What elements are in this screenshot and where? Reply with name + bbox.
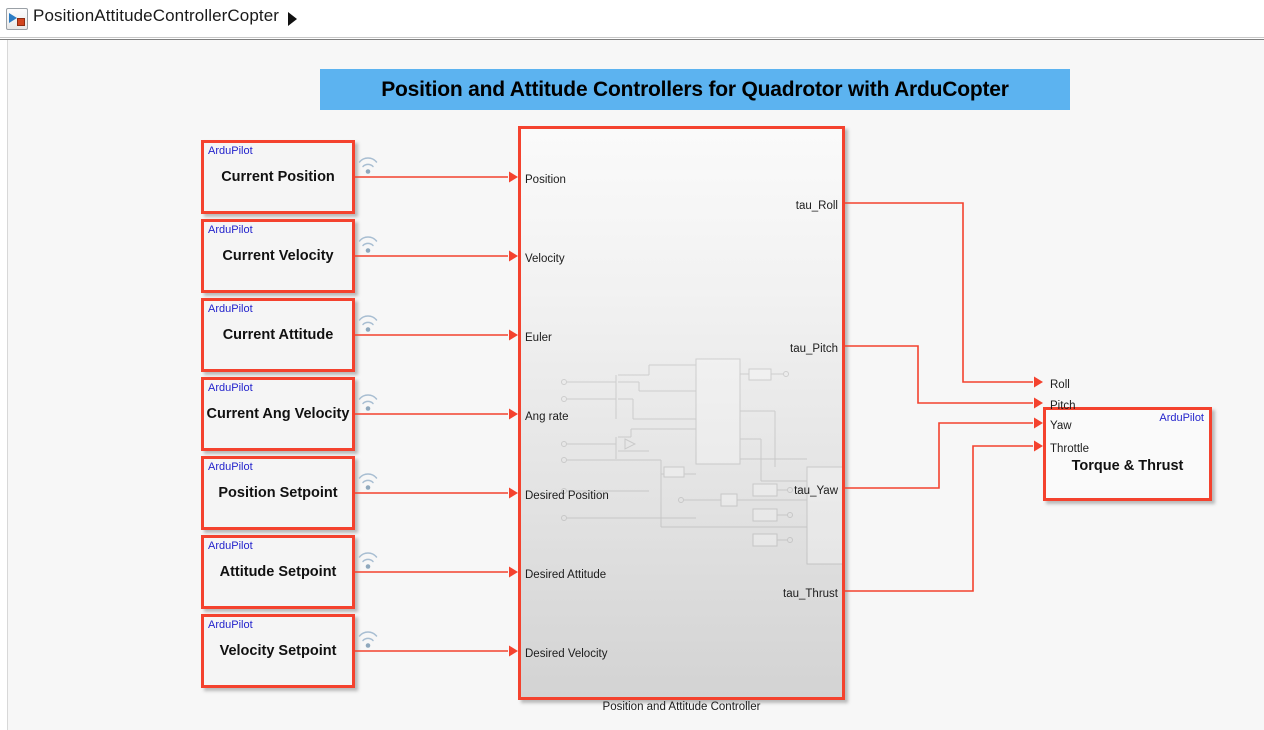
subsystem-input-label: Desired Attitude — [525, 569, 606, 581]
torque-block-input-label: Roll — [1050, 379, 1070, 391]
wifi-signal-icon — [358, 234, 378, 256]
torque-and-thrust-block[interactable]: ArduPilot Torque & Thrust RollPitchYawTh… — [1043, 407, 1212, 501]
roll-arrow — [1034, 377, 1043, 388]
subsystem-output-label: tau_Yaw — [794, 485, 838, 497]
wifi-signal-icon — [358, 155, 378, 177]
input-arrow-5 — [509, 567, 518, 578]
source-block-current-position[interactable]: ArduPilotCurrent Position — [201, 140, 355, 214]
source-block-current-velocity[interactable]: ArduPilotCurrent Velocity — [201, 219, 355, 293]
subsystem-output-label: tau_Pitch — [790, 343, 838, 355]
torque-block-input-label: Pitch — [1050, 400, 1076, 412]
ardupilot-tag: ArduPilot — [208, 461, 253, 473]
wire-tau-thrust — [845, 446, 1033, 591]
model-canvas[interactable]: Position and Attitude Controllers for Qu… — [0, 39, 1264, 730]
input-arrow-3 — [509, 409, 518, 420]
torque-block-label: Torque & Thrust — [1046, 458, 1209, 474]
source-block-label: Current Position — [204, 169, 352, 185]
wifi-signal-icon — [358, 471, 378, 493]
subsystem-output-label: tau_Thrust — [783, 588, 838, 600]
ardupilot-tag: ArduPilot — [1159, 412, 1204, 424]
pitch-arrow — [1034, 398, 1043, 409]
ardupilot-tag: ArduPilot — [208, 540, 253, 552]
ardupilot-tag: ArduPilot — [208, 382, 253, 394]
torque-block-input-label: Throttle — [1050, 443, 1089, 455]
source-block-label: Position Setpoint — [204, 485, 352, 501]
input-arrow-6 — [509, 646, 518, 657]
input-arrow-1 — [509, 251, 518, 262]
source-block-current-attitude[interactable]: ArduPilotCurrent Attitude — [201, 298, 355, 372]
input-arrow-2 — [509, 330, 518, 341]
torque-block-input-label: Yaw — [1050, 420, 1072, 432]
source-block-label: Velocity Setpoint — [204, 643, 352, 659]
simulink-model-icon[interactable] — [6, 8, 28, 30]
model-icon-square — [17, 18, 25, 26]
breadcrumb-bar: PositionAttitudeControllerCopter — [0, 0, 1264, 38]
source-block-label: Current Velocity — [204, 248, 352, 264]
chevron-right-icon[interactable] — [288, 12, 297, 26]
source-block-current-ang-velocity[interactable]: ArduPilotCurrent Ang Velocity — [201, 377, 355, 451]
subsystem-input-label: Desired Velocity — [525, 648, 607, 660]
subsystem-preview-graphic — [521, 129, 845, 700]
subsystem-input-label: Position — [525, 174, 566, 186]
ardupilot-tag: ArduPilot — [208, 303, 253, 315]
subsystem-input-label: Desired Position — [525, 490, 609, 502]
throttle-arrow — [1034, 441, 1043, 452]
wire-tau-yaw — [845, 423, 1033, 488]
breadcrumb-model-name[interactable]: PositionAttitudeControllerCopter — [33, 6, 279, 26]
subsystem-output-label: tau_Roll — [796, 200, 838, 212]
subsystem-input-label: Ang rate — [525, 411, 568, 423]
diagram-title-banner: Position and Attitude Controllers for Qu… — [320, 69, 1070, 110]
wifi-signal-icon — [358, 629, 378, 651]
subsystem-input-label: Euler — [525, 332, 552, 344]
diagram-title-text: Position and Attitude Controllers for Qu… — [381, 78, 1008, 102]
source-block-label: Current Attitude — [204, 327, 352, 343]
ardupilot-tag: ArduPilot — [208, 224, 253, 236]
source-block-label: Current Ang Velocity — [204, 406, 352, 422]
source-block-position-setpoint[interactable]: ArduPilotPosition Setpoint — [201, 456, 355, 530]
wifi-signal-icon — [358, 550, 378, 572]
wifi-signal-icon — [358, 392, 378, 414]
model-icon-triangle — [9, 13, 17, 23]
wire-tau-roll — [845, 203, 1033, 382]
source-block-label: Attitude Setpoint — [204, 564, 352, 580]
input-arrow-4 — [509, 488, 518, 499]
subsystem-input-label: Velocity — [525, 253, 565, 265]
yaw-arrow — [1034, 418, 1043, 429]
wifi-signal-icon — [358, 313, 378, 335]
input-arrow-0 — [509, 172, 518, 183]
canvas-left-rail — [0, 40, 8, 730]
ardupilot-tag: ArduPilot — [208, 619, 253, 631]
ardupilot-tag: ArduPilot — [208, 145, 253, 157]
source-block-attitude-setpoint[interactable]: ArduPilotAttitude Setpoint — [201, 535, 355, 609]
source-block-velocity-setpoint[interactable]: ArduPilotVelocity Setpoint — [201, 614, 355, 688]
subsystem-caption: Position and Attitude Controller — [518, 701, 845, 713]
position-attitude-controller-subsystem[interactable]: PositionVelocityEulerAng rateDesired Pos… — [518, 126, 845, 700]
wire-tau-pitch — [845, 346, 1033, 403]
